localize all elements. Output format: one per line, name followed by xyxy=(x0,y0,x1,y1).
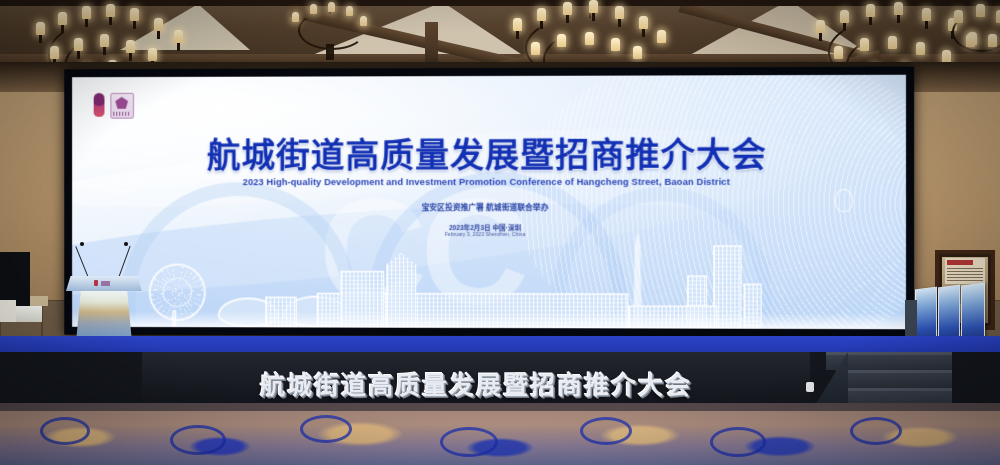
patterned-carpet xyxy=(0,403,1000,465)
microphone-head-right xyxy=(124,242,128,246)
screen-title-cn: 航城街道高质量发展暨招商推介大会 xyxy=(72,127,906,177)
lectern-logo-a xyxy=(94,280,98,286)
ceiling-post xyxy=(425,22,438,62)
screen-title-en: 2023 High-quality Development and Invest… xyxy=(72,176,906,187)
conference-hall-photo: CC xyxy=(0,0,1000,465)
city-skyline-illustration xyxy=(72,227,906,329)
wall-switch-plate xyxy=(30,296,48,306)
hangcheng-street-logo xyxy=(110,93,134,119)
step-marker xyxy=(806,382,814,392)
screen-organizers: 宝安区投资推广署 航城街道联合举办 xyxy=(72,202,906,213)
led-screen: CC xyxy=(72,75,906,329)
led-screen-frame: CC xyxy=(64,67,914,338)
screen-logo-group xyxy=(94,93,134,119)
baoan-investment-logo xyxy=(94,93,105,117)
chandelier-far-right xyxy=(952,0,1000,70)
microphone-head-left xyxy=(80,242,84,246)
equipment-box xyxy=(0,300,16,322)
stage-banner-text: 航城街道高质量发展暨招商推介大会 xyxy=(140,366,812,402)
stage-front-left xyxy=(0,352,142,410)
screen-date-en: February 3, 2023 Shenzhen, China xyxy=(72,232,906,239)
lectern-logo-b xyxy=(101,281,110,286)
screen-date-cn: 2023年2月3日 中国·深圳 xyxy=(72,222,906,232)
chandelier-center-left xyxy=(290,0,370,62)
